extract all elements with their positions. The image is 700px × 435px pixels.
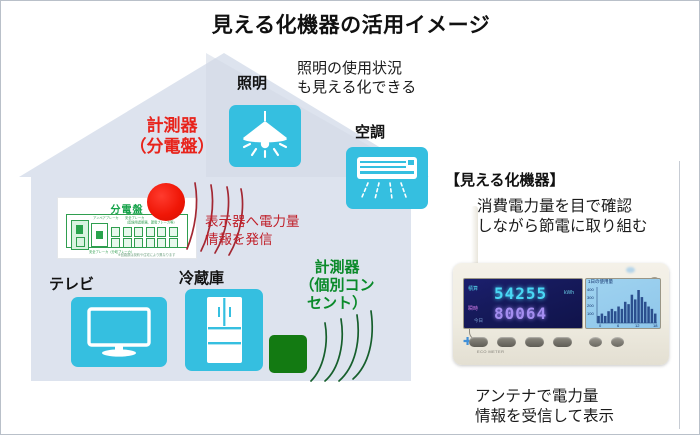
meter-button[interactable] <box>525 337 544 347</box>
right-panel-note-top: 消費電力量を目で確認 しながら節電に取り組む <box>477 197 648 238</box>
right-panel-header: 【見える化機器】 <box>445 169 565 190</box>
breaker-row-bottom <box>111 238 178 248</box>
lcd-value-primary: 54255 <box>494 284 547 303</box>
panel-divider <box>679 161 680 429</box>
svg-text:300: 300 <box>587 295 594 300</box>
breaker-cell <box>111 238 120 248</box>
meter-lcd-display: 積算 瞬時 今日 54255 80064 kWh <box>463 278 583 329</box>
callout-measuring-device-board: 計測器 （分電盤） <box>97 116 247 157</box>
appliance-label-lighting: 照明 <box>237 72 267 93</box>
sub-breaker-icon <box>91 223 108 247</box>
right-panel-note-bottom: アンテナで電力量 情報を受信して表示 <box>475 387 614 428</box>
breaker-cell <box>157 238 166 248</box>
television-icon <box>71 297 167 367</box>
refrigerator-icon <box>185 289 263 371</box>
svg-text:400: 400 <box>587 287 594 292</box>
breaker-cell <box>169 238 178 248</box>
meter-button-small[interactable] <box>589 337 602 347</box>
note-transmit: 表示器へ電力量 情報を発信 <box>205 213 300 248</box>
breaker-cell <box>146 238 155 248</box>
diagram-canvas: 見える化機器の活用イメージ 照明 照明の使用状況 も見える化できる 空調 <box>0 0 700 435</box>
svg-text:0: 0 <box>599 323 602 328</box>
breaker-cell <box>134 227 143 237</box>
graph-bars: 400300200100061218 <box>586 279 660 328</box>
meter-antenna-icon <box>471 206 478 268</box>
svg-text:100: 100 <box>587 311 594 316</box>
appliance-tile-aircon[interactable] <box>346 147 428 209</box>
meter-button-small[interactable] <box>611 337 624 347</box>
breaker-cell <box>123 238 132 248</box>
lcd-unit-label: kWh <box>564 290 574 296</box>
svg-text:12: 12 <box>635 323 640 328</box>
appliance-tile-tv[interactable] <box>71 297 167 367</box>
board-caption-foot: ※回路数は契約や住宅により異なります <box>118 252 175 257</box>
svg-text:18: 18 <box>653 323 658 328</box>
meter-button-row[interactable] <box>469 337 624 347</box>
appliance-label-refrigerator: 冷蔵庫 <box>179 267 224 288</box>
breaker-cell <box>134 238 143 248</box>
lighting-note: 照明の使用状況 も見える化できる <box>297 59 416 97</box>
visualization-meter-device[interactable]: ⚙ 積算 瞬時 今日 54255 80064 kWh 1日の使用量 400300… <box>453 263 669 365</box>
meter-brand-text: ECO METER <box>477 349 504 354</box>
meter-graph-display: 1日の使用量 400300200100061218 <box>585 278 661 329</box>
board-caption-main: アンペアブレーカ <box>93 215 119 220</box>
breaker-cell <box>146 227 155 237</box>
breaker-cell <box>169 227 178 237</box>
breaker-cell <box>157 227 166 237</box>
breaker-cell <box>123 227 132 237</box>
meter-button[interactable] <box>553 337 572 347</box>
breaker-row-top <box>111 227 178 237</box>
lcd-value-secondary: 80064 <box>494 304 547 323</box>
meter-button[interactable] <box>497 337 516 347</box>
main-breaker-icon <box>71 220 89 250</box>
callout-measuring-device-outlet: 計測器 （個別コン セント） <box>277 259 397 313</box>
appliance-label-aircon: 空調 <box>355 121 385 142</box>
lcd-tag-small: 今日 <box>474 318 483 324</box>
svg-text:200: 200 <box>587 303 594 308</box>
lcd-tag-primary: 積算 <box>468 285 478 292</box>
appliance-tile-refrigerator[interactable] <box>185 289 263 371</box>
outlet-sensor-box <box>269 335 307 373</box>
breaker-cell <box>111 227 120 237</box>
board-sensor-dot <box>147 183 185 221</box>
meter-highlight <box>626 267 635 273</box>
air-conditioner-icon <box>346 147 428 209</box>
svg-text:6: 6 <box>617 323 620 328</box>
appliance-label-tv: テレビ <box>49 273 94 294</box>
lcd-tag-secondary: 瞬時 <box>468 305 478 312</box>
meter-button[interactable] <box>469 337 488 347</box>
page-title: 見える化機器の活用イメージ <box>1 9 700 39</box>
